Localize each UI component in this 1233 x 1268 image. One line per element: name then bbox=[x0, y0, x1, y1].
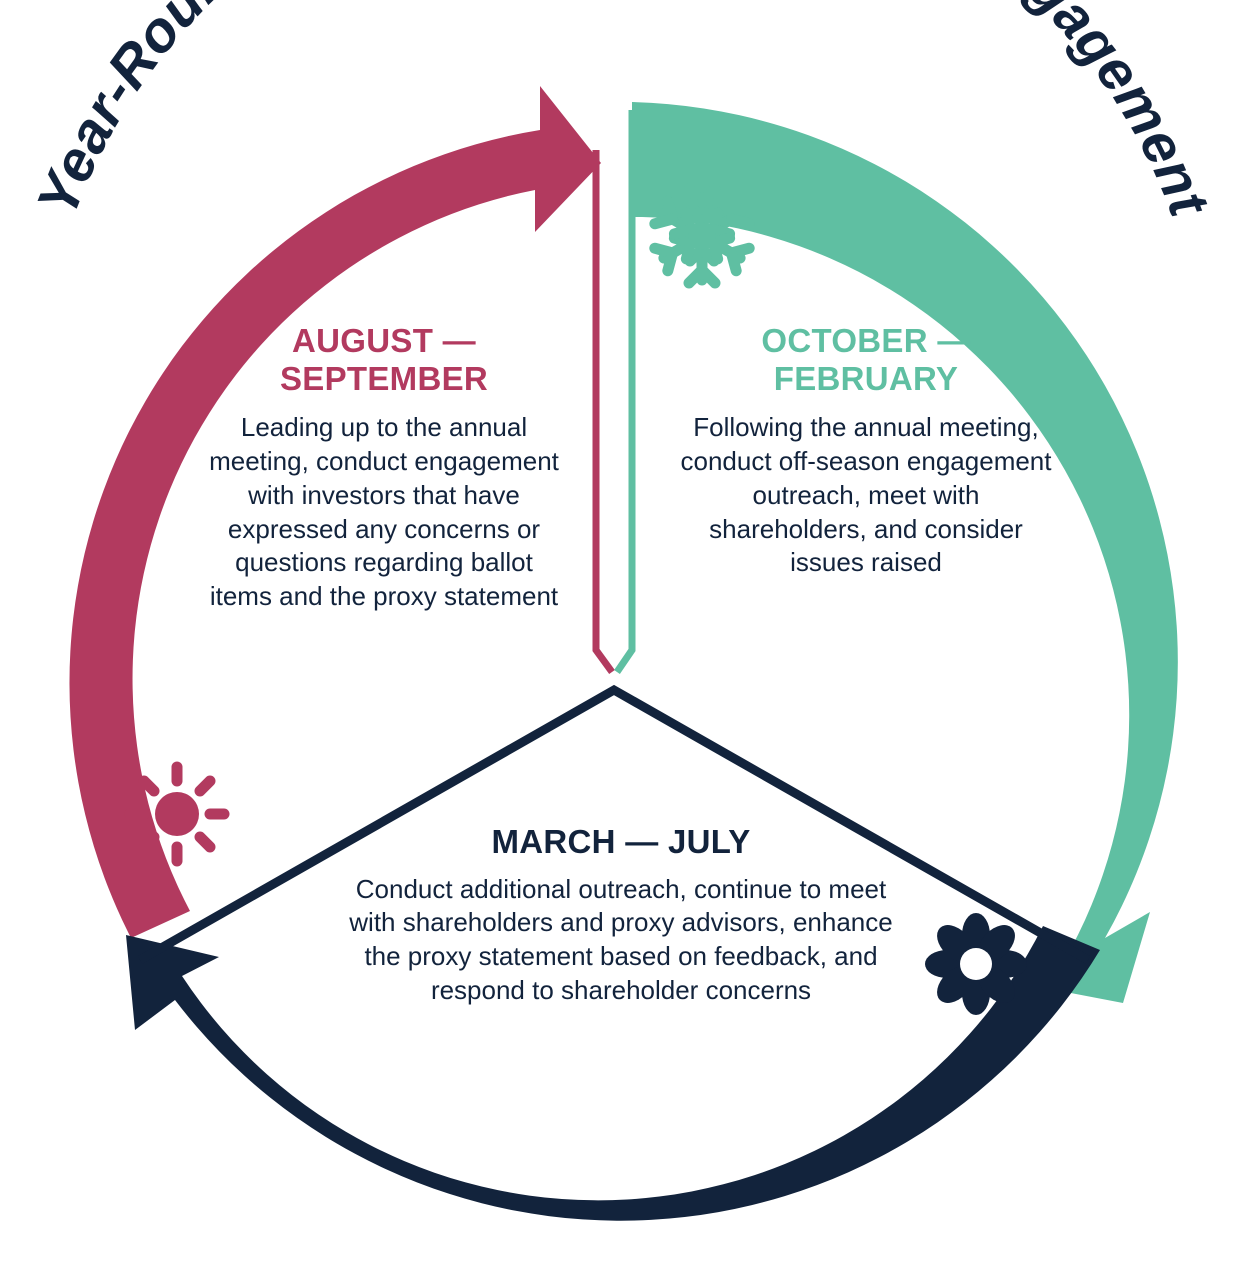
segment-heading-october-february: OCTOBER — FEBRUARY bbox=[676, 322, 1056, 397]
segment-body-august-september: Leading up to the annual meeting, conduc… bbox=[198, 411, 570, 614]
segment-october-february: OCTOBER — FEBRUARY Following the annual … bbox=[676, 322, 1056, 580]
page-title: Year-Round Shareholder Outreach and Enga… bbox=[25, 0, 1222, 226]
heading-line-2: FEBRUARY bbox=[676, 360, 1056, 398]
heading-line-2: SEPTEMBER bbox=[198, 360, 570, 398]
heading-line-1: MARCH — JULY bbox=[336, 823, 906, 861]
shareholder-engagement-cycle-diagram: Year-Round Shareholder Outreach and Enga… bbox=[0, 0, 1233, 1268]
segment-march-july: MARCH — JULY Conduct additional outreach… bbox=[336, 823, 906, 1008]
snowflake-icon bbox=[655, 189, 749, 283]
segment-body-march-july: Conduct additional outreach, continue to… bbox=[336, 873, 906, 1008]
segment-heading-august-september: AUGUST — SEPTEMBER bbox=[198, 322, 570, 397]
cycle-arrows-svg: Year-Round Shareholder Outreach and Enga… bbox=[0, 0, 1233, 1268]
heading-line-1: AUGUST — bbox=[198, 322, 570, 360]
segment-heading-march-july: MARCH — JULY bbox=[336, 823, 906, 861]
crimson-radial-line bbox=[596, 150, 612, 672]
sun-icon bbox=[130, 767, 224, 861]
segment-august-september: AUGUST — SEPTEMBER Leading up to the ann… bbox=[198, 322, 570, 614]
page-title-textpath: Year-Round Shareholder Outreach and Enga… bbox=[25, 0, 1222, 226]
green-radial-line bbox=[617, 110, 632, 672]
heading-line-1: OCTOBER — bbox=[676, 322, 1056, 360]
segment-body-october-february: Following the annual meeting, conduct of… bbox=[676, 411, 1056, 580]
